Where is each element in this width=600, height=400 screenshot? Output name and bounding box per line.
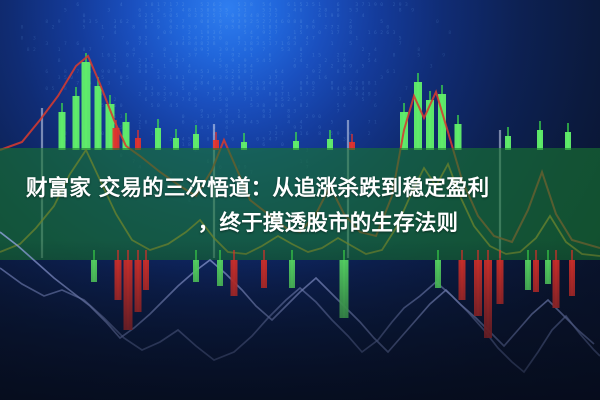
bottom-vignette — [0, 240, 600, 400]
headline-line-2: ，终于摸透股市的生存法则 — [0, 209, 600, 239]
cover-image-stage: 6418171725262528546152516371902935363348… — [0, 0, 600, 400]
headline-line-1: 财富家 交易的三次悟道：从追涨杀跌到稳定盈利 — [0, 174, 600, 204]
